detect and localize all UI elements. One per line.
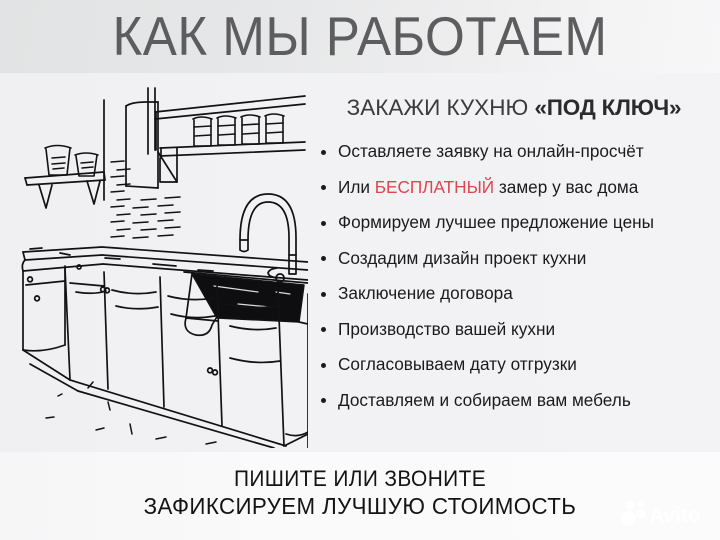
list-item: Или БЕСПЛАТНЫЙ замер у вас дома	[316, 176, 716, 199]
list-item: Доставляем и собираем вам мебель	[316, 389, 716, 412]
list-item: Заключение договора	[316, 282, 716, 305]
floor-speckles	[46, 382, 216, 444]
header-band: КАК МЫ РАБОТАЕМ	[0, 0, 720, 73]
backsplash-hatching	[111, 161, 180, 238]
list-item: Формируем лучшее предложение цены	[316, 211, 716, 234]
wall-cabinet-group	[126, 88, 177, 188]
step-text: Или	[338, 177, 375, 197]
floor-group	[23, 350, 308, 448]
cups-group	[45, 146, 98, 177]
poster-root: КАК МЫ РАБОТАЕМ	[0, 0, 720, 540]
list-item: Согласовываем дату отгрузки	[316, 353, 716, 376]
svg-text:Avito: Avito	[649, 504, 701, 527]
list-item: Оставляете заявку на онлайн‑просчёт	[316, 140, 716, 163]
offer-heading-prefix: ЗАКАЖИ КУХНЮ	[347, 95, 535, 120]
cup-shelf-group	[25, 172, 105, 208]
offer-column: ЗАКАЖИ КУХНЮ «ПОД КЛЮЧ» Оставляете заявк…	[312, 78, 716, 448]
list-item: Создадим дизайн проект кухни	[316, 247, 716, 270]
step-text: Производство вашей кухни	[338, 319, 555, 339]
step-text-after: замер у вас дома	[494, 177, 638, 197]
list-item: Производство вашей кухни	[316, 318, 716, 341]
avito-watermark: Avito	[620, 498, 712, 528]
offer-heading-emphasis: «ПОД КЛЮЧ»	[534, 95, 681, 120]
step-text: Заключение договора	[338, 283, 513, 303]
jars-group	[193, 114, 284, 146]
step-text: Оставляете заявку на онлайн‑просчёт	[338, 141, 644, 161]
kitchen-illustration	[8, 78, 308, 448]
step-text: Создадим дизайн проект кухни	[338, 248, 586, 268]
step-text: Согласовываем дату отгрузки	[338, 354, 577, 374]
footer-line-2: ЗАФИКСИРУЕМ ЛУЧШУЮ СТОИМОСТЬ	[18, 492, 702, 520]
step-highlight: БЕСПЛАТНЫЙ	[375, 177, 494, 197]
page-title: КАК МЫ РАБОТАЕМ	[25, 4, 695, 68]
footer-text-group: ПИШИТЕ ИЛИ ЗВОНИТЕ ЗАФИКСИРУЕМ ЛУЧШУЮ СТ…	[0, 466, 720, 520]
footer-line-1: ПИШИТЕ ИЛИ ЗВОНИТЕ	[18, 466, 702, 492]
sink-group	[184, 272, 308, 335]
step-text: Формируем лучшее предложение цены	[338, 212, 654, 232]
footer-band: ПИШИТЕ ИЛИ ЗВОНИТЕ ЗАФИКСИРУЕМ ЛУЧШУЮ СТ…	[0, 452, 720, 540]
step-text: Доставляем и собираем вам мебель	[338, 390, 631, 410]
offer-heading: ЗАКАЖИ КУХНЮ «ПОД КЛЮЧ»	[312, 94, 716, 122]
steps-list: Оставляете заявку на онлайн‑просчёт Или …	[316, 140, 716, 424]
